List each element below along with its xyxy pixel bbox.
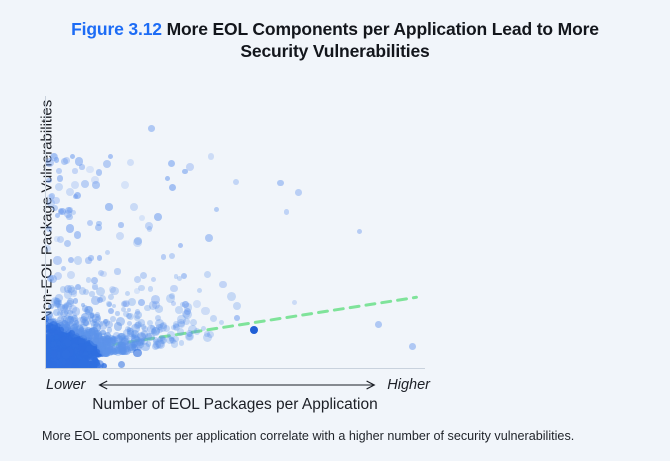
scatter-point bbox=[204, 271, 211, 278]
scatter-point bbox=[219, 320, 224, 325]
scatter-point bbox=[122, 300, 130, 308]
scatter-point bbox=[46, 178, 51, 183]
scatter-point bbox=[197, 288, 202, 293]
scatter-point bbox=[52, 205, 58, 211]
scatter-point-notable bbox=[409, 343, 416, 350]
scatter-point bbox=[284, 209, 289, 214]
scatter-point bbox=[73, 298, 79, 304]
scatter-point bbox=[186, 163, 194, 171]
scatter-point bbox=[181, 273, 188, 280]
scatter-point bbox=[57, 175, 63, 181]
scatter-point bbox=[46, 353, 51, 360]
scatter-point bbox=[169, 253, 175, 259]
scatter-point bbox=[105, 203, 112, 210]
scatter-point bbox=[68, 257, 74, 263]
scatter-point bbox=[54, 157, 59, 162]
scatter-point bbox=[108, 308, 114, 314]
scatter-point bbox=[141, 343, 150, 352]
double-arrow-icon bbox=[94, 378, 380, 392]
scatter-point bbox=[101, 363, 107, 368]
scatter-point bbox=[72, 363, 78, 368]
scatter-point bbox=[108, 154, 113, 159]
scatter-point bbox=[46, 314, 54, 322]
scatter-point bbox=[140, 272, 147, 279]
scatter-point bbox=[89, 327, 97, 335]
scatter-point bbox=[105, 250, 110, 255]
scatter-point bbox=[97, 255, 103, 261]
scatter-point bbox=[64, 240, 71, 247]
scatter-point bbox=[219, 281, 226, 288]
scatter-point bbox=[184, 308, 191, 315]
scatter-point bbox=[66, 224, 74, 232]
scatter-point bbox=[134, 276, 141, 283]
scatter-point bbox=[68, 311, 77, 320]
scatter-point bbox=[133, 238, 142, 247]
scatter-point bbox=[118, 361, 125, 368]
scatter-point bbox=[74, 256, 83, 265]
scatter-point bbox=[61, 158, 68, 165]
scatter-point-notable bbox=[277, 180, 284, 187]
scatter-point bbox=[71, 181, 79, 189]
scatter-point bbox=[165, 176, 170, 181]
scatter-point bbox=[87, 220, 93, 226]
scatter-point bbox=[71, 290, 77, 296]
scatter-point bbox=[292, 300, 297, 305]
scatter-point bbox=[208, 153, 215, 160]
scatter-point bbox=[95, 224, 103, 232]
scatter-point bbox=[55, 183, 63, 191]
scatter-point bbox=[214, 207, 219, 212]
scatter-point bbox=[173, 323, 179, 329]
scatter-point bbox=[183, 318, 190, 325]
page-title: Figure 3.12 More EOL Components per Appl… bbox=[48, 18, 622, 63]
scatter-point bbox=[103, 160, 111, 168]
scatter-point bbox=[89, 363, 96, 368]
scatter-point bbox=[91, 277, 98, 284]
scatter-point bbox=[161, 254, 166, 259]
x-axis-line bbox=[45, 368, 425, 369]
scatter-point bbox=[81, 180, 89, 188]
scatter-point bbox=[139, 215, 145, 221]
scatter-point bbox=[49, 275, 57, 283]
scatter-point bbox=[169, 184, 176, 191]
scatter-point-notable bbox=[148, 125, 155, 132]
scatter-point bbox=[144, 305, 151, 312]
scatter-point bbox=[74, 231, 81, 238]
scatter-point bbox=[46, 245, 51, 253]
scatter-point bbox=[133, 349, 141, 357]
scatter-point bbox=[107, 327, 112, 332]
scatter-point bbox=[151, 295, 160, 304]
scatter-point bbox=[151, 277, 156, 282]
scatter-point bbox=[63, 302, 71, 310]
scatter-point bbox=[116, 232, 125, 241]
scatter-point bbox=[56, 168, 62, 174]
scatter-point bbox=[127, 159, 134, 166]
plot-area bbox=[46, 96, 424, 368]
scatter-point bbox=[67, 271, 75, 279]
x-axis-direction-row: Lower Higher bbox=[46, 376, 430, 394]
scatter-point bbox=[233, 179, 239, 185]
figure-caption: More EOL components per application corr… bbox=[42, 428, 642, 446]
scatter-point bbox=[134, 288, 140, 294]
scatter-point bbox=[53, 256, 61, 264]
scatter-point bbox=[142, 326, 148, 332]
scatter-point bbox=[78, 343, 86, 351]
scatter-point bbox=[114, 268, 120, 274]
scatter-point bbox=[205, 234, 213, 242]
scatter-point-notable bbox=[65, 207, 72, 214]
scatter-point bbox=[233, 302, 241, 310]
scatter-point bbox=[154, 213, 162, 221]
scatter-point bbox=[171, 301, 176, 306]
scatter-point bbox=[89, 291, 94, 296]
scatter-point bbox=[207, 331, 214, 338]
scatter-point bbox=[170, 285, 178, 293]
scatter-point bbox=[50, 341, 57, 348]
scatter-point bbox=[193, 300, 201, 308]
scatter-point bbox=[50, 361, 57, 368]
scatter-point bbox=[92, 285, 97, 290]
scatter-point bbox=[295, 189, 302, 196]
scatter-point bbox=[148, 286, 153, 291]
figure-container: Figure 3.12 More EOL Components per Appl… bbox=[0, 0, 670, 461]
scatter-point bbox=[127, 321, 132, 326]
figure-number-label: Figure 3.12 bbox=[71, 19, 162, 39]
scatter-point bbox=[121, 181, 129, 189]
scatter-point bbox=[201, 307, 209, 315]
scatter-point bbox=[234, 315, 240, 321]
scatter-point bbox=[357, 229, 362, 234]
scatter-point bbox=[69, 330, 75, 336]
scatter-point bbox=[130, 203, 138, 211]
scatter-point bbox=[54, 236, 59, 241]
scatter-point bbox=[115, 311, 119, 315]
scatter-point bbox=[125, 291, 130, 296]
scatter-point bbox=[62, 350, 70, 358]
scatter-point bbox=[131, 335, 140, 344]
scatter-point bbox=[179, 340, 185, 346]
scatter-point bbox=[134, 311, 142, 319]
x-axis-high-label: Higher bbox=[387, 377, 430, 393]
scatter-point bbox=[95, 349, 100, 354]
x-axis-title: Number of EOL Packages per Application bbox=[20, 396, 450, 414]
scatter-point bbox=[227, 292, 236, 301]
scatter-point bbox=[116, 317, 125, 326]
scatter-point bbox=[126, 313, 132, 319]
scatter-point bbox=[178, 243, 183, 248]
scatter-point bbox=[118, 348, 125, 355]
scatter-point bbox=[160, 336, 165, 341]
scatter-point-notable bbox=[375, 321, 382, 328]
scatter-point bbox=[61, 266, 66, 271]
figure-title-text: More EOL Components per Application Lead… bbox=[162, 19, 599, 61]
scatter-point bbox=[86, 166, 94, 174]
x-axis-low-label: Lower bbox=[46, 377, 86, 393]
scatter-point-notable bbox=[250, 326, 258, 334]
scatter-point bbox=[97, 297, 103, 303]
scatter-point bbox=[72, 168, 77, 173]
scatter-point bbox=[74, 192, 82, 200]
scatter-point bbox=[86, 345, 94, 353]
scatter-point bbox=[46, 226, 52, 232]
scatter-point-notable bbox=[96, 169, 103, 176]
scatter-point bbox=[127, 308, 132, 313]
scatter-chart: Non-EOL Package Vulnerabilities bbox=[20, 96, 450, 374]
scatter-point bbox=[118, 222, 123, 227]
scatter-point bbox=[85, 257, 91, 263]
scatter-point bbox=[210, 315, 217, 322]
scatter-point bbox=[168, 160, 175, 167]
scatter-point bbox=[53, 309, 60, 316]
